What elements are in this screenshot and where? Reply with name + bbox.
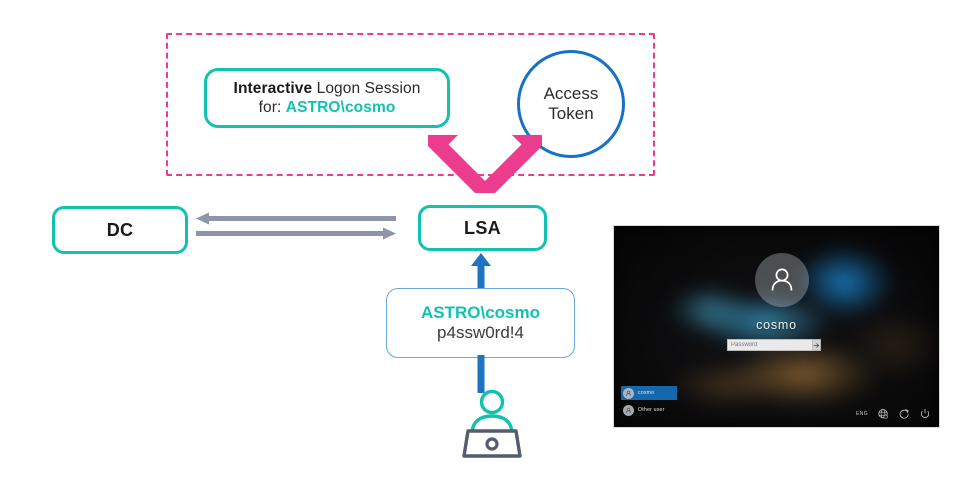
session-rest-label: Logon Session	[312, 80, 420, 97]
language-indicator[interactable]: ENG	[856, 411, 868, 417]
credentials-to-lsa-arrow-icon	[466, 253, 496, 291]
mini-avatar-icon	[623, 388, 634, 399]
bidirectional-arrows-icon	[196, 211, 396, 243]
credentials-box: ASTRO\cosmo p4ssw0rd!4	[386, 288, 575, 358]
credentials-password: p4ssw0rd!4	[437, 323, 524, 343]
password-field-wrap[interactable]	[727, 339, 811, 351]
user-list-item-label: cosmo	[638, 390, 654, 396]
mini-avatar-icon	[623, 405, 634, 416]
ease-of-access-icon[interactable]	[897, 407, 910, 420]
user-list-item-other-user[interactable]: Other user	[621, 403, 677, 417]
interactive-logon-session-text: Interactive Logon Session for: ASTRO\cos…	[234, 79, 421, 118]
network-globe-icon[interactable]	[876, 407, 889, 420]
windows-logon-screen: cosmo cosmo	[613, 225, 940, 428]
user-list-item-cosmo[interactable]: cosmo	[621, 386, 677, 400]
session-account-label: ASTRO\cosmo	[286, 99, 396, 116]
interactive-logon-session-box: Interactive Logon Session for: ASTRO\cos…	[204, 68, 450, 128]
diagram-canvas: Interactive Logon Session for: ASTRO\cos…	[0, 0, 957, 494]
logon-username: cosmo	[614, 318, 939, 332]
user-list-item-label: Other user	[638, 407, 665, 413]
session-bold-label: Interactive	[234, 80, 313, 97]
person-at-laptop-icon	[459, 388, 525, 458]
power-icon[interactable]	[918, 407, 931, 420]
lsa-node: LSA	[418, 205, 547, 251]
password-input[interactable]	[727, 339, 813, 351]
password-submit-button[interactable]	[813, 339, 821, 351]
lsa-node-label: LSA	[464, 218, 501, 239]
credentials-username: ASTRO\cosmo	[421, 303, 540, 323]
double-arrow-down-v-icon	[424, 131, 546, 193]
dc-node-label: DC	[107, 220, 134, 241]
access-token-text: Access Token	[544, 84, 599, 125]
user-switch-list: cosmo Other user	[621, 386, 677, 420]
session-for-label: for:	[259, 99, 286, 116]
access-token-line1: Access	[544, 84, 599, 104]
user-avatar-icon	[755, 253, 809, 307]
dc-node: DC	[52, 206, 188, 254]
logon-system-tray: ENG	[856, 407, 931, 420]
access-token-line2: Token	[544, 104, 599, 124]
